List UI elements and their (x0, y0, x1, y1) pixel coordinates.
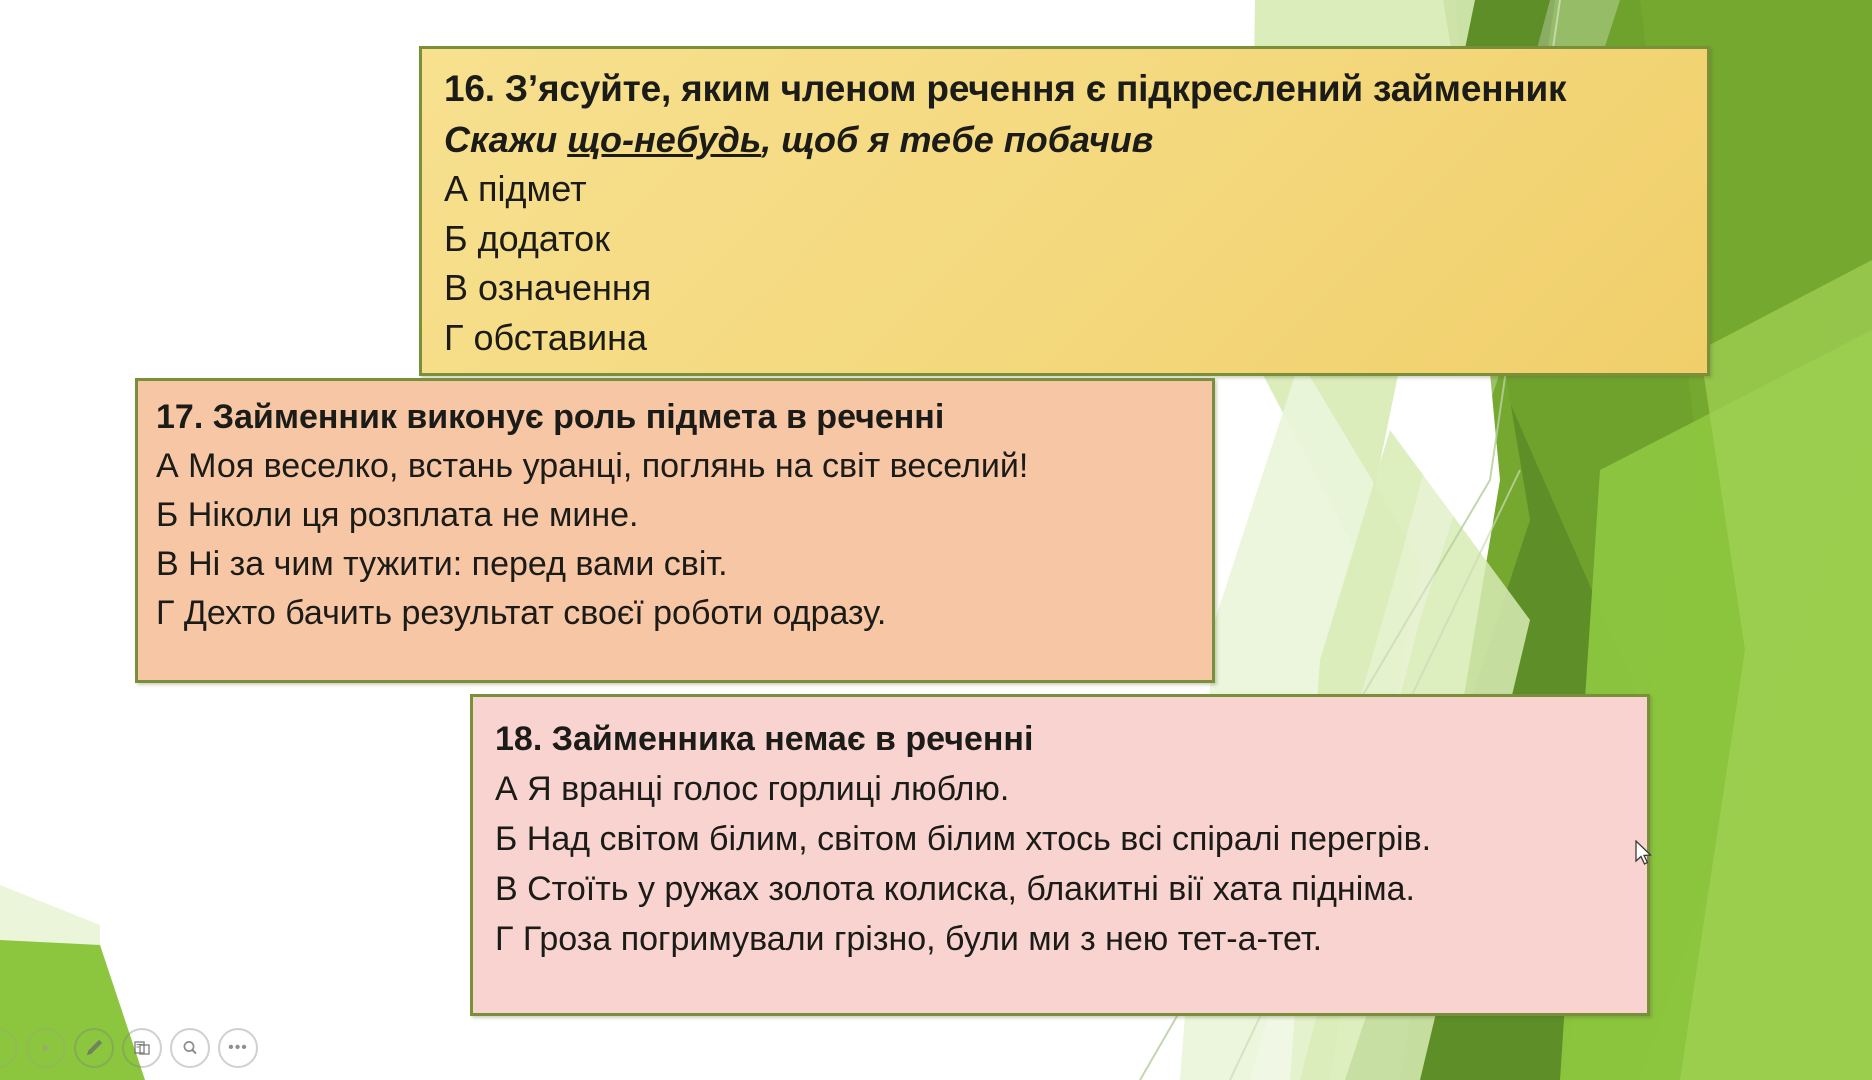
question-16-option-g[interactable]: Г обставина (444, 317, 1707, 359)
slides-grid-icon (131, 1037, 153, 1059)
question-16-title: 16. З’ясуйте, яким членом речення є підк… (444, 67, 1707, 111)
question-18-option-a[interactable]: А Я вранці голос горлиці люблю. (495, 769, 1647, 809)
presenter-toolbar: ••• (0, 1024, 258, 1072)
question-18-option-v[interactable]: В Стоїть у ружах золота колиска, блакитн… (495, 869, 1647, 909)
question-17-option-g[interactable]: Г Дехто бачить результат своєї роботи од… (156, 593, 1212, 633)
pen-tool-button[interactable] (74, 1028, 114, 1068)
all-slides-button[interactable] (122, 1028, 162, 1068)
prompt-underlined-word: що-небудь (567, 119, 761, 160)
pen-icon (83, 1037, 105, 1059)
question-16-option-a[interactable]: А підмет (444, 168, 1707, 210)
more-options-button[interactable]: ••• (218, 1028, 258, 1068)
question-18-box: 18. Займенника немає в реченні А Я вранц… (470, 694, 1650, 1016)
question-18-title: 18. Займенника немає в реченні (495, 719, 1647, 759)
question-17-box: 17. Займенник виконує роль підмета в реч… (135, 378, 1215, 683)
question-17-option-b[interactable]: Б Ніколи ця розплата не мине. (156, 495, 1212, 535)
question-16-box: 16. З’ясуйте, яким членом речення є підк… (419, 46, 1710, 376)
chevron-left-icon (0, 1041, 5, 1055)
prompt-suffix: , щоб я тебе побачив (761, 119, 1153, 160)
question-16-option-b[interactable]: Б додаток (444, 218, 1707, 260)
question-18-option-g[interactable]: Г Гроза погримували грізно, були ми з не… (495, 919, 1647, 959)
play-icon (39, 1041, 53, 1055)
prompt-prefix: Скажи (444, 119, 567, 160)
question-17-option-a[interactable]: А Моя веселко, встань уранці, поглянь на… (156, 446, 1212, 486)
question-17-option-v[interactable]: В Ні за чим тужити: перед вами світ. (156, 544, 1212, 584)
presentation-slide: 16. З’ясуйте, яким членом речення є підк… (0, 0, 1872, 1080)
mouse-pointer (1634, 840, 1654, 868)
zoom-button[interactable] (170, 1028, 210, 1068)
question-18-option-b[interactable]: Б Над світом білим, світом білим хтось в… (495, 819, 1647, 859)
question-16-prompt: Скажи що-небудь, щоб я тебе побачив (444, 119, 1707, 161)
previous-slide-button[interactable] (0, 1028, 18, 1068)
ellipsis-icon: ••• (228, 1040, 248, 1056)
magnifier-icon (179, 1037, 201, 1059)
question-17-title: 17. Займенник виконує роль підмета в реч… (156, 397, 1212, 437)
question-16-option-v[interactable]: В означення (444, 267, 1707, 309)
play-button[interactable] (26, 1028, 66, 1068)
